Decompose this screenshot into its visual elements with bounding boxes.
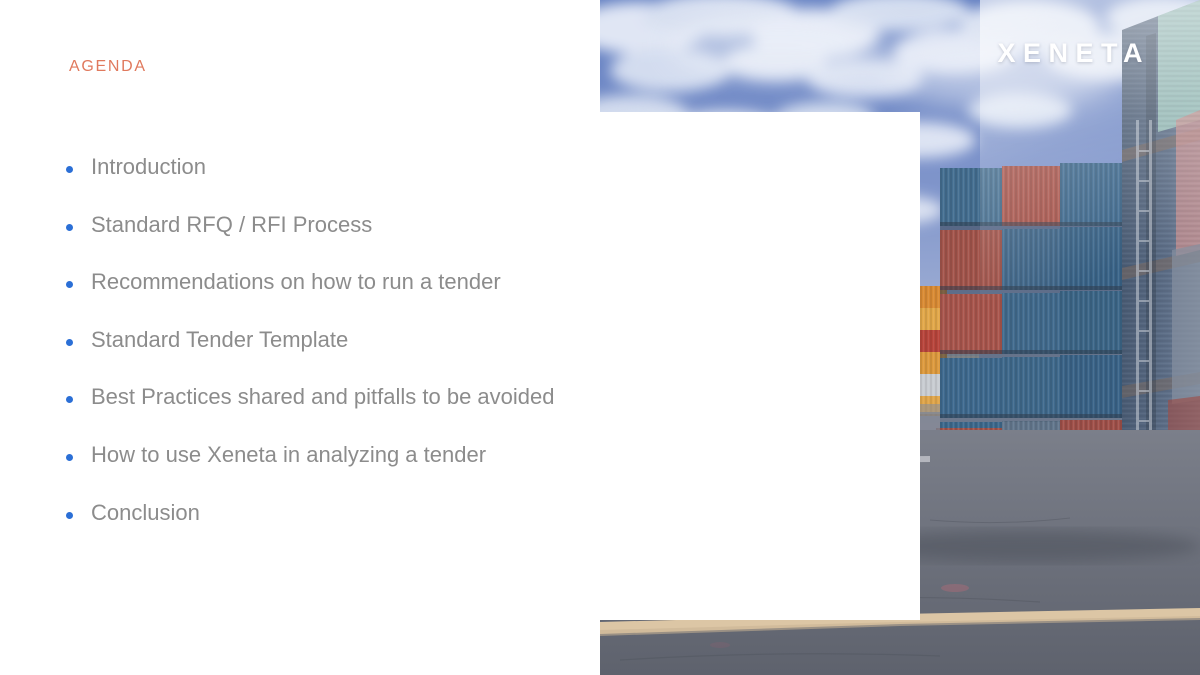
agenda-item-label: Conclusion — [91, 502, 200, 524]
agenda-item-label: Best Practices shared and pitfalls to be… — [91, 386, 555, 408]
list-item: Best Practices shared and pitfalls to be… — [66, 386, 586, 444]
bullet-dot-icon — [66, 512, 73, 519]
list-item: Conclusion — [66, 502, 586, 560]
bullet-dot-icon — [66, 281, 73, 288]
xeneta-logo: XENETA — [997, 40, 1150, 67]
agenda-slide: XENETA AGENDA Introduction Standard RFQ … — [0, 0, 1200, 675]
agenda-item-label: Recommendations on how to run a tender — [91, 271, 501, 293]
agenda-list: Introduction Standard RFQ / RFI Process … — [66, 156, 586, 559]
agenda-item-label: Standard Tender Template — [91, 329, 348, 351]
list-item: Standard RFQ / RFI Process — [66, 214, 586, 272]
agenda-item-label: Introduction — [91, 156, 206, 178]
list-item: Introduction — [66, 156, 586, 214]
bullet-dot-icon — [66, 396, 73, 403]
list-item: Standard Tender Template — [66, 329, 586, 387]
agenda-item-label: Standard RFQ / RFI Process — [91, 214, 372, 236]
white-overlay-panel — [600, 112, 920, 620]
bullet-dot-icon — [66, 166, 73, 173]
list-item: How to use Xeneta in analyzing a tender — [66, 444, 586, 502]
bullet-dot-icon — [66, 224, 73, 231]
list-item: Recommendations on how to run a tender — [66, 271, 586, 329]
agenda-item-label: How to use Xeneta in analyzing a tender — [91, 444, 486, 466]
page-title: AGENDA — [69, 57, 147, 76]
bullet-dot-icon — [66, 454, 73, 461]
bullet-dot-icon — [66, 339, 73, 346]
